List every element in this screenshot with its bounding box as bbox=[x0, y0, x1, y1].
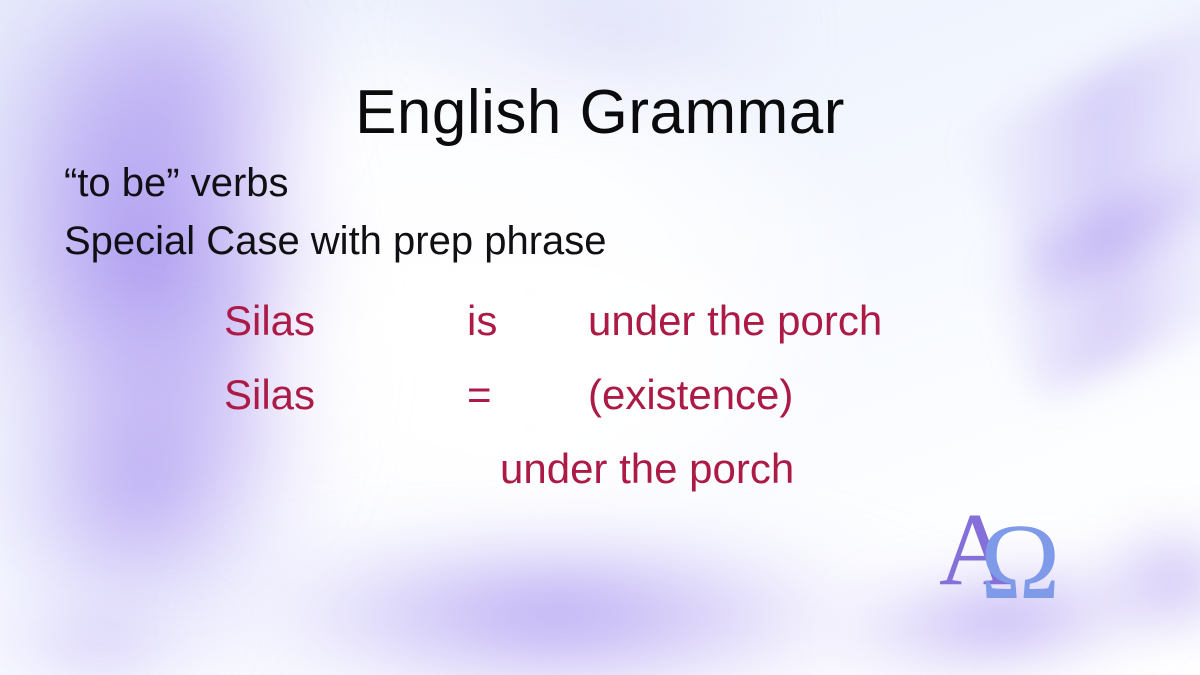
omega-icon: Ω bbox=[980, 503, 1060, 606]
page-title: English Grammar bbox=[0, 82, 1200, 144]
example-complement: (existence) bbox=[588, 374, 793, 416]
slide-canvas: English Grammar “to be” verbs Special Ca… bbox=[0, 0, 1200, 675]
example-subject: Silas bbox=[224, 300, 315, 342]
example-verb: is bbox=[467, 300, 497, 342]
example-complement: under the porch bbox=[588, 300, 882, 342]
subhead-special-case: Special Case with prep phrase bbox=[64, 221, 607, 261]
example-equals-sign: = bbox=[467, 374, 492, 416]
slide-content: English Grammar “to be” verbs Special Ca… bbox=[0, 0, 1200, 675]
example-subject: Silas bbox=[224, 374, 315, 416]
subhead-to-be-verbs: “to be” verbs bbox=[64, 163, 289, 203]
alpha-omega-logo: Α Ω bbox=[940, 498, 1065, 606]
example-prepositional-phrase: under the porch bbox=[500, 448, 794, 490]
